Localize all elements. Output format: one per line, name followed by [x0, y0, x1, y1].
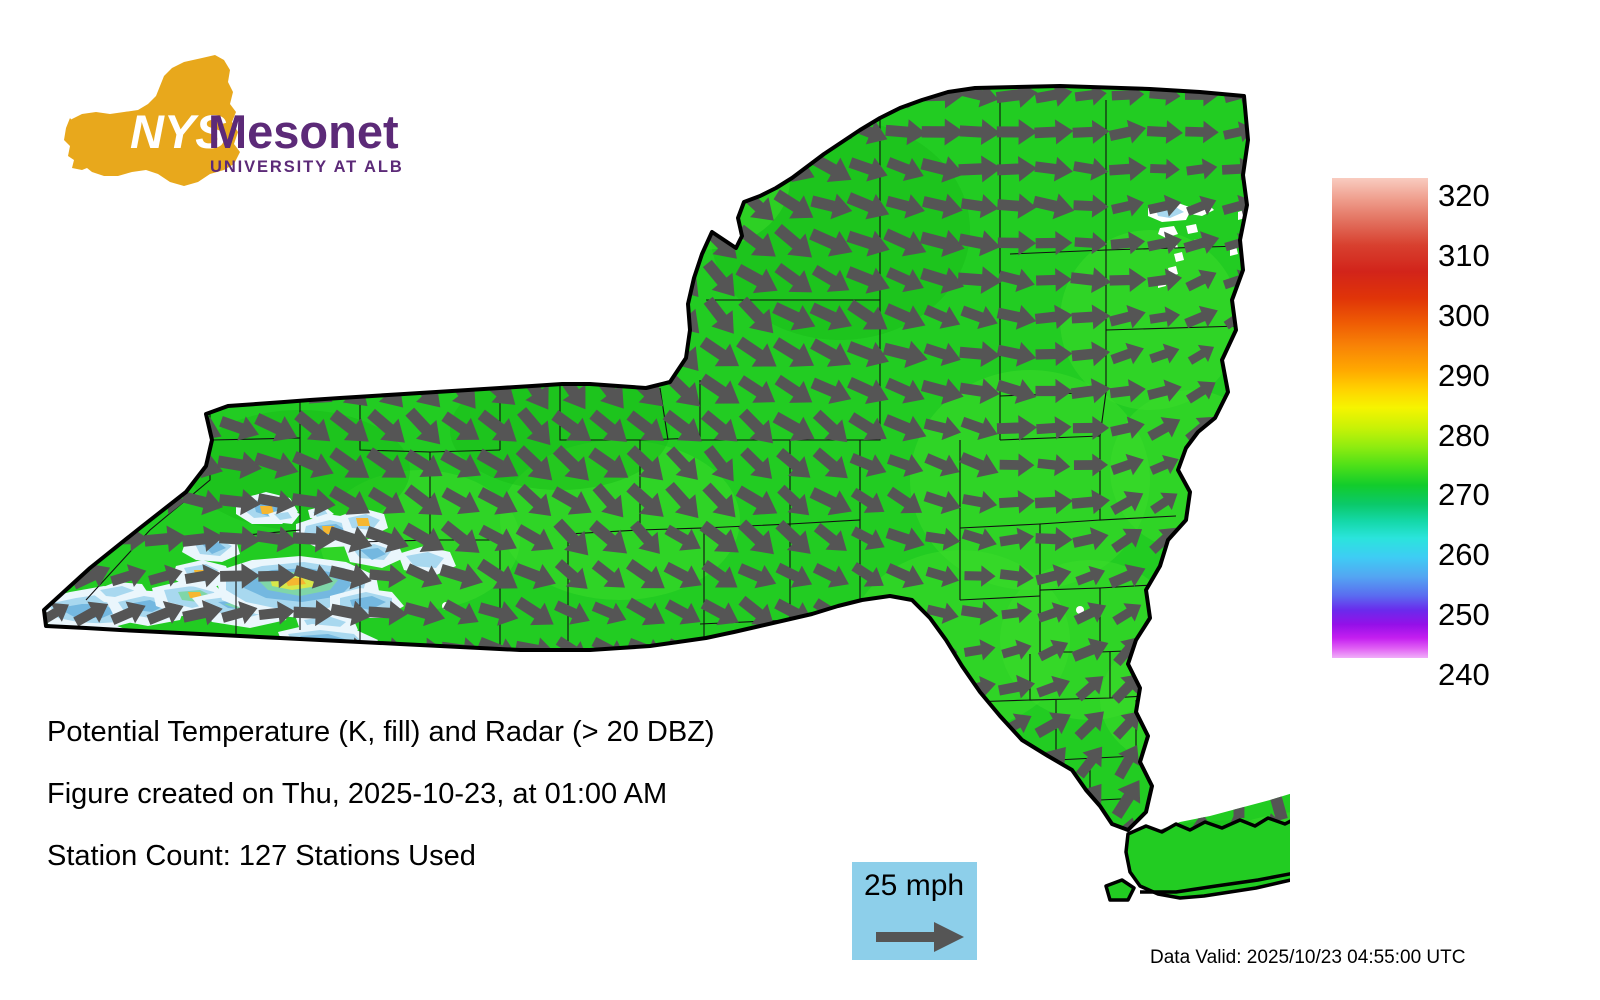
wind-arrow: [289, 291, 340, 343]
wind-arrow: [1145, 703, 1185, 746]
wind-arrow: [107, 297, 152, 337]
wind-arrow: [143, 411, 189, 445]
wind-arrow: [1263, 85, 1290, 106]
colorbar-tick-290: 290: [1438, 360, 1490, 391]
wind-arrow: [621, 71, 674, 120]
wind-arrow: [179, 221, 227, 265]
wind-arrow: [703, 672, 740, 703]
wind-arrow: [288, 255, 340, 305]
wind-arrow: [623, 328, 672, 381]
wind-arrow: [549, 217, 596, 270]
wind-arrow: [584, 254, 636, 305]
nys-mesonet-logo: NYS Mesonet UNIVERSITY AT ALBANY: [52, 52, 402, 192]
wind-arrow: [441, 106, 484, 158]
wind-arrow: [621, 218, 673, 268]
wind-arrow: [255, 219, 300, 268]
wind-arrow: [1148, 777, 1182, 819]
logo-subtitle-text: UNIVERSITY AT ALBANY: [210, 158, 402, 176]
wind-arrow: [104, 258, 154, 301]
wind-arrow: [404, 672, 446, 702]
wind-arrow: [958, 778, 1002, 818]
wind-arrow: [625, 669, 670, 704]
wind-arrow: [177, 295, 229, 339]
wind-speed-legend: 25 mph: [852, 862, 977, 960]
wind-arrow: [70, 224, 114, 263]
colorbar-tick-labels: 320310300290280270260250240: [1438, 160, 1578, 680]
wind-arrow: [1074, 814, 1109, 857]
wind-arrow: [621, 144, 673, 194]
colorbar-tick-250: 250: [1438, 599, 1490, 630]
wind-arrow: [146, 668, 187, 705]
wind-arrow: [1261, 157, 1290, 182]
wind-arrow: [184, 670, 222, 703]
wind-arrow: [72, 633, 112, 668]
wind-arrow: [216, 256, 265, 304]
wind-arrow: [512, 69, 560, 122]
wind-arrow: [107, 335, 151, 373]
wind-arrow: [733, 148, 784, 191]
wind-arrow: [325, 292, 378, 341]
wind-arrow: [518, 673, 555, 702]
wind-arrow: [739, 671, 777, 702]
wind-arrow: [1223, 630, 1254, 671]
wind-arrow: [32, 227, 78, 260]
wind-arrow: [221, 673, 259, 701]
colorbar-tick-310: 310: [1438, 240, 1490, 271]
wind-arrow: [326, 328, 376, 380]
wind-arrow: [1256, 446, 1290, 484]
wind-arrow: [68, 260, 116, 300]
wind-arrow: [441, 144, 483, 195]
wind-arrow: [327, 218, 375, 269]
wind-arrow: [75, 490, 109, 513]
wind-arrow: [474, 218, 524, 269]
wind-arrow: [888, 637, 924, 662]
wind-arrow: [141, 221, 190, 265]
wind-arrow: [477, 181, 521, 232]
wind-arrow: [589, 671, 630, 704]
wind-arrow: [695, 110, 746, 154]
wind-arrow: [110, 378, 149, 405]
wind-arrow: [33, 190, 77, 223]
caption-line-station-count: Station Count: 127 Stations Used: [47, 842, 947, 871]
wind-arrow: [363, 291, 412, 344]
wind-arrow: [1259, 626, 1290, 673]
wind-arrow: [846, 75, 892, 114]
wind-arrow: [1221, 664, 1257, 711]
wind-arrow: [1182, 591, 1221, 635]
wind-arrow: [1222, 592, 1256, 633]
wind-arrow: [1148, 739, 1182, 782]
wind-arrow: [1260, 411, 1290, 444]
wind-arrow: [888, 673, 925, 701]
wind-arrow: [658, 110, 710, 155]
wind-arrow: [959, 813, 1001, 856]
wind-arrow: [476, 291, 522, 343]
wind-arrow: [477, 69, 522, 121]
wind-arrow: [809, 78, 855, 112]
wind-arrow: [400, 217, 450, 269]
wind-arrow: [297, 675, 332, 698]
caption-line-created: Figure created on Thu, 2025-10-23, at 01…: [47, 780, 947, 809]
wind-arrow: [738, 634, 778, 666]
wind-arrow: [178, 255, 228, 305]
wind-arrow: [961, 744, 999, 779]
wind-arrow: [441, 670, 483, 703]
wind-arrow: [1145, 664, 1184, 709]
wind-arrow: [214, 293, 265, 341]
wind-arrow: [998, 815, 1037, 854]
wind-arrow: [811, 670, 852, 704]
wind-arrow: [177, 369, 229, 413]
wind-arrow: [513, 291, 560, 344]
wind-arrow: [663, 668, 704, 706]
wind-arrow: [1182, 664, 1222, 710]
wind-arrow: [403, 143, 447, 195]
weather-map-page: NYS Mesonet UNIVERSITY AT ALBANY 3203103…: [0, 0, 1600, 1000]
wind-arrow: [510, 328, 561, 379]
wind-arrow: [1189, 779, 1216, 818]
wind-arrow-icon: [876, 920, 966, 954]
wind-arrow: [1259, 120, 1290, 144]
wind-arrow: [476, 144, 521, 195]
wind-arrow: [622, 291, 672, 343]
wind-arrow: [439, 217, 486, 270]
wind-arrow: [695, 73, 747, 116]
wind-arrow: [585, 107, 634, 157]
wind-arrow: [400, 330, 450, 378]
wind-arrow: [1186, 738, 1219, 783]
wind-arrow: [399, 254, 451, 305]
logo-mesonet-text: Mesonet: [208, 105, 399, 158]
wind-arrow: [1035, 813, 1073, 858]
colorbar-tick-300: 300: [1438, 300, 1490, 331]
colorbar-tick-280: 280: [1438, 420, 1490, 451]
wind-arrow: [35, 377, 76, 405]
colorbar: [1332, 178, 1428, 658]
wind-arrow: [405, 70, 446, 119]
wind-arrow: [364, 254, 412, 307]
wind-arrow: [586, 180, 634, 233]
wind-arrow: [438, 70, 487, 120]
wind-arrow: [1257, 663, 1290, 711]
wind-arrow: [511, 180, 562, 232]
wind-arrow: [214, 329, 267, 378]
wind-arrow: [849, 635, 890, 665]
wind-arrow: [998, 742, 1037, 780]
wind-arrow: [71, 298, 114, 336]
wind-arrow: [32, 262, 78, 299]
wind-arrow: [400, 291, 449, 344]
wind-arrow: [584, 217, 635, 269]
wind-arrow: [549, 69, 598, 122]
wind-arrow: [511, 143, 561, 195]
wind-arrow: [1259, 301, 1290, 332]
colorbar-tick-260: 260: [1438, 539, 1490, 570]
wind-arrow: [585, 144, 635, 195]
wind-arrow: [439, 254, 486, 306]
wind-arrow: [1079, 891, 1104, 926]
wind-arrow: [403, 180, 447, 232]
wind-arrow: [550, 669, 595, 705]
wind-arrow: [1220, 518, 1258, 560]
wind-arrow: [547, 181, 599, 231]
wind-arrow: [854, 676, 884, 697]
wind-arrow: [436, 328, 487, 380]
wind-arrow: [622, 254, 671, 306]
wind-arrow: [1258, 483, 1290, 521]
wind-arrow: [585, 329, 635, 378]
figure-caption: Potential Temperature (K, fill) and Rada…: [47, 718, 947, 904]
wind-arrow: [110, 671, 148, 703]
wind-arrow: [999, 853, 1035, 892]
wind-arrow: [1226, 741, 1253, 781]
wind-arrow: [140, 331, 192, 378]
wind-arrow: [777, 671, 813, 702]
wind-arrow: [71, 336, 114, 372]
wind-arrow: [1037, 889, 1072, 930]
wind-arrow: [695, 145, 748, 193]
wind-arrow: [1222, 700, 1256, 748]
wind-speed-legend-label: 25 mph: [864, 870, 964, 902]
wind-arrow: [770, 73, 820, 117]
wind-arrow: [257, 673, 297, 701]
wind-arrow: [658, 181, 710, 232]
wind-arrow: [147, 635, 186, 665]
colorbar-tick-270: 270: [1438, 479, 1490, 510]
wind-arrow: [35, 452, 75, 478]
wind-arrow: [1143, 628, 1187, 671]
wind-arrow: [1258, 264, 1290, 296]
wind-arrow: [371, 674, 406, 699]
wind-arrow: [774, 632, 815, 667]
wind-arrow: [548, 255, 598, 305]
wind-arrow: [548, 107, 597, 156]
wind-arrow: [1220, 446, 1258, 484]
wind-arrow: [1036, 852, 1071, 891]
wind-arrow: [997, 780, 1036, 817]
caption-line-title: Potential Temperature (K, fill) and Rada…: [47, 718, 947, 747]
wind-arrow: [1258, 553, 1290, 600]
wind-arrow: [659, 144, 708, 194]
wind-arrow: [251, 292, 303, 342]
wind-arrow: [141, 297, 191, 337]
wind-arrow: [1257, 884, 1290, 934]
wind-arrow: [252, 256, 303, 304]
wind-arrow: [621, 107, 673, 156]
wind-arrow: [438, 291, 487, 342]
wind-arrow: [547, 292, 599, 342]
wind-arrow: [253, 333, 301, 375]
wind-arrow: [145, 451, 186, 480]
wind-arrow: [328, 254, 375, 306]
wind-arrow: [362, 328, 413, 380]
wind-arrow: [141, 370, 190, 411]
wind-arrow: [288, 330, 341, 378]
wind-arrow: [71, 524, 113, 554]
data-valid-timestamp: Data Valid: 2025/10/23 04:55:00 UTC: [1150, 948, 1465, 967]
wind-arrow: [34, 633, 75, 668]
wind-arrow: [106, 448, 151, 481]
wind-arrow: [178, 331, 228, 378]
wind-arrow: [216, 220, 265, 266]
wind-arrow: [925, 673, 960, 701]
wind-arrow: [585, 293, 636, 342]
wind-arrow: [288, 217, 339, 269]
wind-arrow: [511, 106, 560, 158]
wind-arrow: [547, 329, 599, 380]
wind-arrow: [1217, 553, 1262, 599]
wind-arrow: [68, 187, 115, 226]
wind-arrow: [107, 486, 150, 519]
wind-arrow: [37, 671, 73, 704]
wind-arrow: [1260, 338, 1290, 369]
wind-arrow: [475, 254, 523, 306]
wind-arrow: [511, 217, 562, 269]
wind-arrow: [71, 412, 113, 444]
wind-arrow: [1222, 411, 1257, 446]
wind-arrow: [107, 414, 151, 442]
wind-arrow: [513, 254, 559, 307]
wind-arrow: [182, 634, 223, 666]
wind-arrow: [1001, 889, 1033, 929]
wind-arrow: [74, 670, 111, 704]
colorbar-tick-240: 240: [1438, 659, 1490, 690]
wind-arrow: [1180, 626, 1223, 674]
wind-arrow: [71, 378, 113, 405]
wind-arrow: [366, 217, 410, 269]
wind-arrow: [1262, 701, 1290, 746]
colorbar-tick-320: 320: [1438, 180, 1490, 211]
wind-arrow: [477, 106, 522, 157]
wind-arrow: [34, 302, 77, 332]
wind-arrow: [34, 488, 76, 516]
wind-arrow: [1180, 553, 1225, 599]
wind-arrow: [1261, 739, 1290, 783]
wind-arrow: [440, 180, 483, 232]
wind-arrow: [1221, 484, 1258, 520]
wind-arrow: [1260, 592, 1290, 634]
wind-arrow: [37, 526, 73, 552]
wind-arrow: [143, 260, 190, 301]
wind-arrow: [734, 74, 781, 115]
wind-arrow: [108, 633, 149, 668]
wind-arrow: [548, 144, 599, 194]
wind-arrow: [812, 635, 852, 666]
wind-arrow: [585, 69, 636, 120]
wind-arrow: [622, 180, 672, 232]
wind-arrow: [1259, 227, 1290, 258]
wind-arrow: [1032, 775, 1076, 821]
wind-arrow: [1182, 519, 1222, 558]
wind-arrow: [1186, 703, 1219, 746]
wind-arrow: [475, 328, 523, 381]
wind-arrow: [1074, 849, 1109, 894]
wind-arrow: [1257, 374, 1290, 408]
wind-arrow: [658, 71, 711, 120]
wind-arrow: [71, 450, 113, 479]
wind-arrow: [34, 339, 75, 368]
wind-arrow: [35, 415, 75, 441]
wind-arrow: [732, 110, 784, 154]
wind-arrow: [106, 221, 152, 265]
wind-arrow: [1258, 518, 1290, 560]
wind-arrow: [772, 114, 819, 151]
wind-arrow: [332, 674, 369, 700]
wind-arrow: [404, 107, 446, 157]
wind-arrow: [1183, 447, 1221, 483]
wind-arrow: [1258, 190, 1290, 221]
wind-arrow: [481, 675, 516, 699]
